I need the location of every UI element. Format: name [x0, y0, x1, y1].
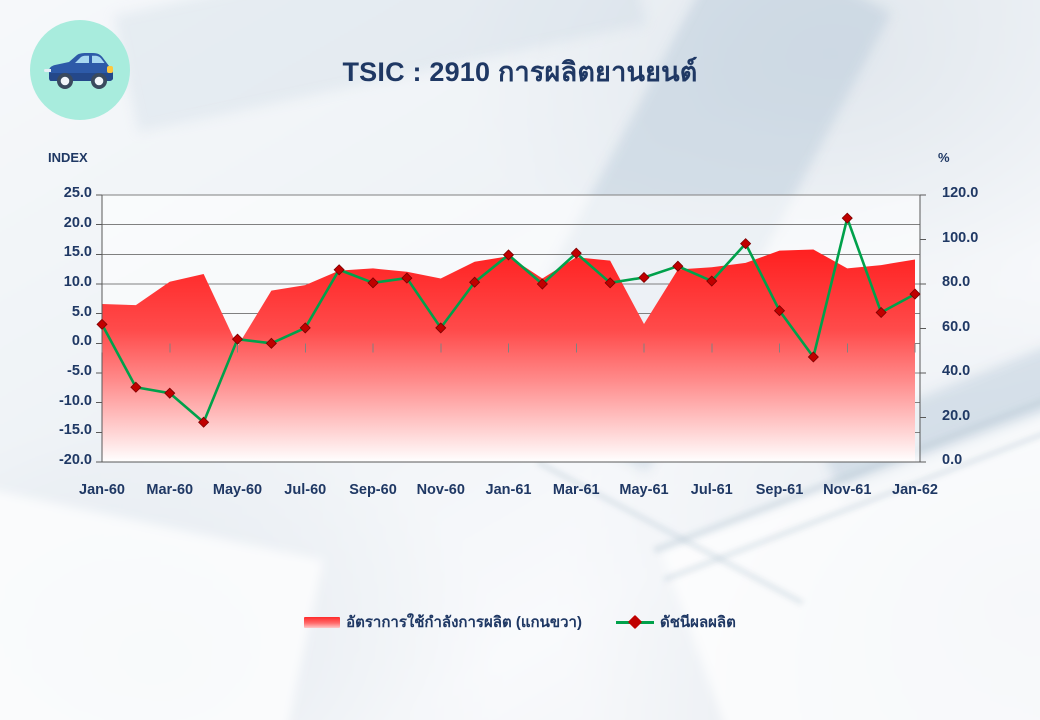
x-axis-tick-label: Jan-62	[892, 482, 938, 498]
left-axis-tick-label: 20.0	[18, 215, 92, 231]
left-axis-title: INDEX	[48, 150, 88, 165]
left-axis-tick-label: -10.0	[18, 393, 92, 409]
x-axis-tick-label: Nov-60	[417, 482, 465, 498]
right-axis-tick-label: 40.0	[942, 363, 970, 379]
right-axis-tick-label: 20.0	[942, 408, 970, 424]
right-axis-tick-label: 80.0	[942, 274, 970, 290]
x-axis-tick-label: Sep-60	[349, 482, 397, 498]
x-axis-tick-label: Sep-61	[756, 482, 804, 498]
right-axis-title: %	[938, 150, 950, 165]
legend-label-capacity-utilization: อัตราการใช้กำลังการผลิต (แกนขวา)	[346, 610, 582, 634]
x-axis-tick-label: May-61	[619, 482, 668, 498]
left-axis-tick-label: -5.0	[18, 363, 92, 379]
left-axis-tick-label: -20.0	[18, 452, 92, 468]
x-axis-tick-label: May-60	[213, 482, 262, 498]
left-axis-tick-label: -15.0	[18, 422, 92, 438]
x-axis-tick-label: Mar-60	[146, 482, 193, 498]
legend-item-production-index[interactable]: ดัชนีผลผลิต	[616, 610, 736, 634]
area-swatch-icon	[304, 617, 340, 628]
left-axis-tick-label: 5.0	[18, 304, 92, 320]
x-axis-tick-label: Jul-60	[284, 482, 326, 498]
x-axis-tick-label: Jan-60	[79, 482, 125, 498]
left-axis-tick-label: 25.0	[18, 185, 92, 201]
left-axis-tick-label: 0.0	[18, 333, 92, 349]
right-axis-tick-label: 100.0	[942, 230, 978, 246]
x-axis-tick-label: Nov-61	[823, 482, 871, 498]
right-axis-tick-label: 60.0	[942, 319, 970, 335]
x-axis-tick-label: Jan-61	[486, 482, 532, 498]
line-diamond-swatch-icon	[616, 616, 654, 628]
x-axis-tick-label: Mar-61	[553, 482, 600, 498]
right-axis-tick-label: 120.0	[942, 185, 978, 201]
legend-label-production-index: ดัชนีผลผลิต	[660, 610, 736, 634]
right-axis-tick-label: 0.0	[942, 452, 962, 468]
left-axis-tick-label: 10.0	[18, 274, 92, 290]
legend-item-capacity-utilization[interactable]: อัตราการใช้กำลังการผลิต (แกนขวา)	[304, 610, 582, 634]
chart-legend: อัตราการใช้กำลังการผลิต (แกนขวา) ดัชนีผล…	[0, 610, 1040, 634]
page-title: TSIC : 2910 การผลิตยานยนต์	[0, 50, 1040, 93]
left-axis-tick-label: 15.0	[18, 244, 92, 260]
x-axis-tick-label: Jul-61	[691, 482, 733, 498]
